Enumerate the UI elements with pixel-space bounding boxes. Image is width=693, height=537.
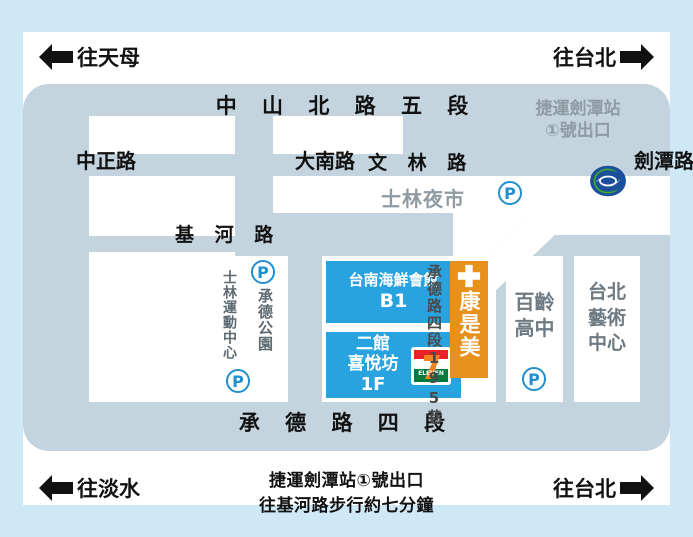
arrow-left-icon — [39, 44, 73, 70]
road-label-jiantan: 劍潭路 — [634, 142, 656, 181]
poi-bailing-line1: 百齡 — [506, 289, 563, 315]
poi-bailing-line2: 高中 — [506, 315, 563, 341]
direction-tianmu-label: 往天母 — [77, 42, 140, 72]
poi-cosmed-label: 康是美 — [458, 290, 480, 359]
direction-taipei-bottom: 往台北 — [553, 473, 654, 503]
road-label-danan: 大南路 — [295, 142, 317, 181]
arrow-right-icon — [620, 475, 654, 501]
poi-taipei-performing-arts-center: 台北 藝術 中心 — [574, 280, 640, 357]
top-direction-banner: 往天母 往台北 — [23, 32, 670, 84]
parking-icon-bailing: P — [522, 367, 546, 391]
poi-tpac-line2: 藝術 — [574, 306, 640, 332]
parking-icon-night-market: P — [498, 181, 522, 205]
parking-icon-chengde-park-bottom: P — [226, 369, 250, 393]
poi-tainan-seafood-line2: B1 — [380, 290, 408, 312]
map-canvas: 中 山 北 路 五 段 承 德 路 四 段 文 林 路 基 河 路 中正路 大南… — [23, 84, 670, 451]
poi-erguan-line3: 1F — [334, 374, 412, 395]
poi-erguan-line2: 喜悅坊 — [334, 354, 412, 374]
road-label-wenlin: 文 林 路 — [368, 148, 473, 175]
bottom-direction-banner: 往淡水 捷運劍潭站①號出口 往基河路步行約七分鐘 往台北 — [23, 451, 670, 505]
poi-bailing-high-school: 百齡 高中 — [506, 289, 563, 341]
taipei-metro-logo-icon — [588, 164, 628, 198]
direction-taipei-top: 往台北 — [553, 42, 654, 72]
arrow-right-icon — [620, 44, 654, 70]
poi-shilin-night-market: 士林夜市 — [381, 183, 465, 212]
poi-tpac-line1: 台北 — [574, 280, 640, 306]
poi-lane-195: 承德路四段195巷 — [424, 264, 445, 426]
map-frame: 往天母 往台北 中 山 北 路 五 段 — [23, 32, 670, 505]
road-label-jihe: 基 河 路 — [175, 220, 280, 247]
poi-shilin-sports-center: 士林運動中心 — [219, 270, 239, 360]
parking-icon-chengde-park-top: P — [251, 260, 275, 284]
road-label-zhongzheng: 中正路 — [76, 142, 98, 181]
direction-tianmu: 往天母 — [39, 42, 140, 72]
mrt-caption-line2: ①號出口 — [513, 120, 643, 142]
mrt-station-caption: 捷運劍潭站 ①號出口 — [513, 98, 643, 142]
poi-tpac-line3: 中心 — [574, 331, 640, 357]
cosmed-cross-icon — [457, 264, 481, 288]
mrt-caption-line1: 捷運劍潭站 — [513, 98, 643, 120]
road-label-chengde-4: 承 德 路 四 段 — [23, 407, 670, 437]
direction-taipei-top-label: 往台北 — [553, 42, 616, 72]
poi-cosmed: 康是美 — [450, 261, 488, 378]
direction-taipei-bottom-label: 往台北 — [553, 473, 616, 503]
poi-chengde-park: 承德公園 — [255, 288, 276, 352]
poi-erguan-line1: 二館 — [334, 334, 412, 354]
